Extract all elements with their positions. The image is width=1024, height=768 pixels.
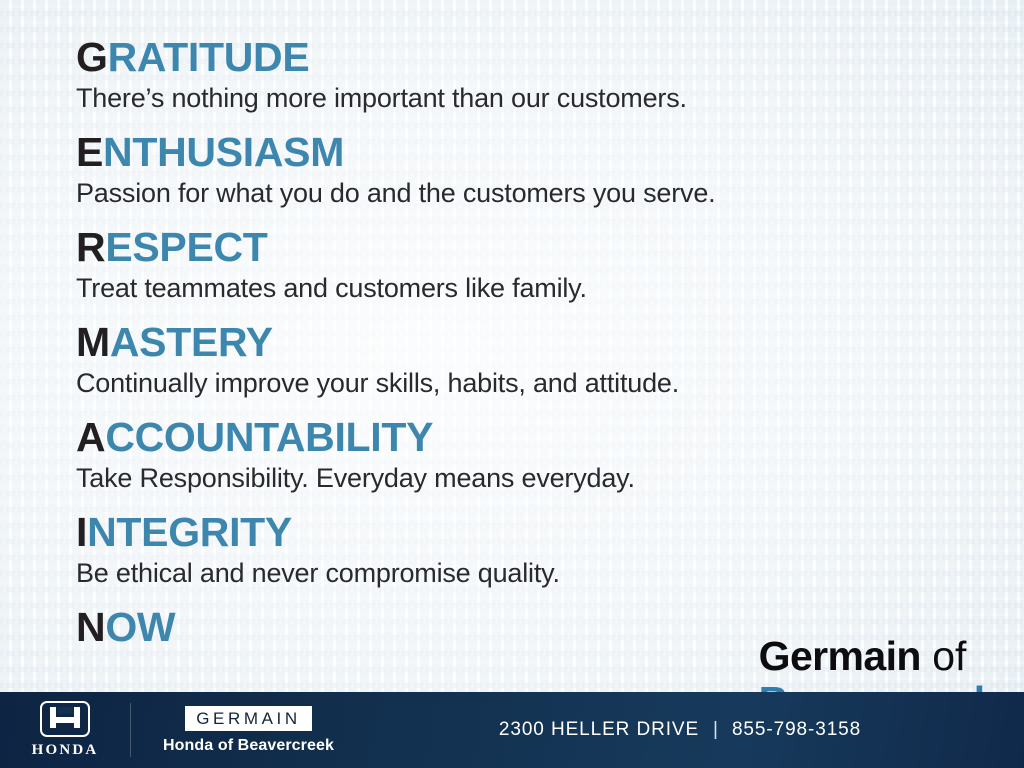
value-heading-integrity: INTEGRITY [76, 509, 1024, 556]
value-heading-accountability: ACCOUNTABILITY [76, 414, 1024, 461]
value-item-mastery: MASTERY Continually improve your skills,… [76, 319, 1024, 400]
value-subtitle-mastery: Continually improve your skills, habits,… [76, 367, 1024, 400]
value-first-letter: N [76, 604, 105, 650]
dealer-connector-of: of [932, 633, 966, 679]
germain-logo: GERMAIN Honda of Beavercreek [131, 706, 360, 755]
value-rest-letters: NTEGRITY [87, 509, 292, 555]
value-heading-enthusiasm: ENTHUSIASM [76, 129, 1024, 176]
value-first-letter: A [76, 414, 105, 460]
value-subtitle-enthusiasm: Passion for what you do and the customer… [76, 177, 1024, 210]
value-rest-letters: ESPECT [105, 224, 267, 270]
value-rest-letters: OW [105, 604, 175, 650]
footer-brand-group: HONDA GERMAIN Honda of Beavercreek [0, 692, 360, 768]
value-heading-gratitude: GRATITUDE [76, 34, 1024, 81]
value-first-letter: M [76, 319, 110, 365]
value-item-gratitude: GRATITUDE There’s nothing more important… [76, 34, 1024, 115]
germain-wordmark: GERMAIN [196, 709, 301, 728]
value-rest-letters: CCOUNTABILITY [105, 414, 433, 460]
honda-wordmark: HONDA [32, 742, 99, 759]
dealer-brand-germain: Germain [759, 633, 921, 679]
value-first-letter: E [76, 129, 103, 175]
value-item-accountability: ACCOUNTABILITY Take Responsibility. Ever… [76, 414, 1024, 495]
value-first-letter: I [76, 509, 87, 555]
value-first-letter: G [76, 34, 108, 80]
value-subtitle-gratitude: There’s nothing more important than our … [76, 82, 1024, 115]
value-subtitle-integrity: Be ethical and never compromise quality. [76, 557, 1024, 590]
honda-h-icon [40, 701, 90, 737]
value-rest-letters: ASTERY [110, 319, 273, 365]
footer-contact-group: 2300 HELLER DRIVE | 855-798-3158 [360, 719, 1024, 741]
value-item-respect: RESPECT Treat teammates and customers li… [76, 224, 1024, 305]
honda-h-crossbar [50, 717, 80, 723]
value-subtitle-respect: Treat teammates and customers like famil… [76, 272, 1024, 305]
germain-dealership-name: Honda of Beavercreek [163, 737, 334, 755]
value-subtitle-accountability: Take Responsibility. Everyday means ever… [76, 462, 1024, 495]
value-item-enthusiasm: ENTHUSIASM Passion for what you do and t… [76, 129, 1024, 210]
core-values-list: GRATITUDE There’s nothing more important… [76, 34, 1024, 665]
footer-address: 2300 HELLER DRIVE [499, 719, 699, 741]
value-heading-mastery: MASTERY [76, 319, 1024, 366]
footer-bar: HONDA GERMAIN Honda of Beavercreek 2300 … [0, 692, 1024, 768]
value-rest-letters: NTHUSIASM [103, 129, 344, 175]
honda-logo: HONDA [0, 701, 130, 759]
value-item-integrity: INTEGRITY Be ethical and never compromis… [76, 509, 1024, 590]
values-poster: GRATITUDE There’s nothing more important… [0, 0, 1024, 768]
honda-h-notch [57, 707, 73, 714]
footer-phone[interactable]: 855-798-3158 [732, 719, 861, 741]
footer-separator: | [713, 719, 718, 741]
value-heading-respect: RESPECT [76, 224, 1024, 271]
value-first-letter: R [76, 224, 105, 270]
dealer-name-line-1: Germain of [759, 636, 996, 677]
germain-wordmark-box: GERMAIN [185, 706, 312, 731]
value-rest-letters: RATITUDE [108, 34, 310, 80]
